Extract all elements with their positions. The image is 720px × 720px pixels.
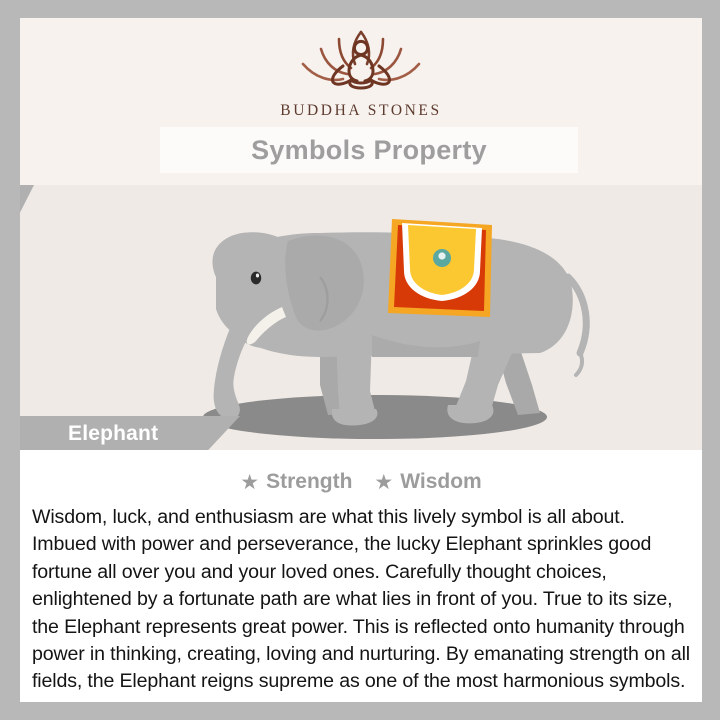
attribute-list: ★ Strength ★ Wisdom: [20, 470, 702, 494]
elephant-eye-highlight: [256, 274, 259, 278]
saddle-gem-center: [438, 252, 445, 259]
symbol-name-label: Elephant: [68, 422, 158, 446]
description-text: Wisdom, luck, and enthusiasm are what th…: [32, 504, 690, 696]
attribute-label: Wisdom: [400, 470, 481, 494]
attribute-strength: ★ Strength: [240, 470, 352, 494]
lotus-meditation-icon: [281, 22, 441, 100]
header: BUDDHA STONES: [20, 18, 702, 128]
elephant-eye: [251, 272, 261, 285]
walking-elephant-illustration: [20, 185, 702, 450]
attribute-label: Strength: [266, 470, 352, 494]
star-icon: ★: [240, 472, 259, 493]
description-panel: ★ Strength ★ Wisdom Wisdom, luck, and en…: [20, 450, 702, 702]
page-title: Symbols Property: [251, 135, 487, 166]
poster-root: BUDDHA STONES Symbols Property: [0, 0, 720, 720]
poster-card: BUDDHA STONES Symbols Property: [20, 18, 702, 702]
attribute-wisdom: ★ Wisdom: [374, 470, 481, 494]
elephant-front-leg: [336, 335, 376, 417]
star-icon: ★: [374, 472, 393, 493]
brand-name: BUDDHA STONES: [20, 102, 702, 120]
title-plate: Symbols Property: [160, 127, 578, 173]
symbol-name-band: Elephant: [20, 416, 240, 452]
brand-logo: BUDDHA STONES: [20, 22, 702, 120]
